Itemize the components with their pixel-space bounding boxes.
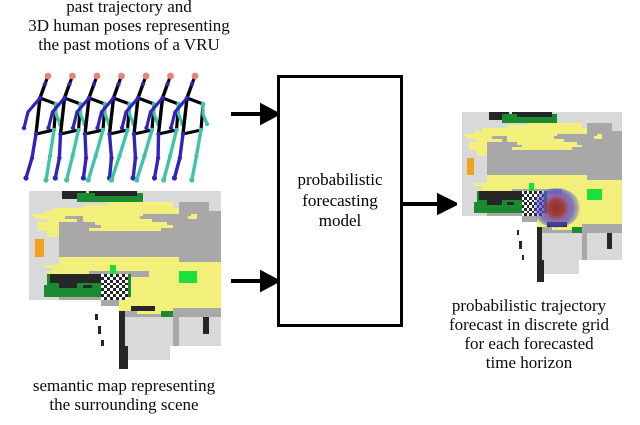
pose-sequence-figure — [18, 62, 248, 194]
semantic-map-input — [29, 191, 221, 375]
pose-skeletons-svg — [18, 62, 248, 194]
arrow-model-to-output — [403, 192, 457, 216]
caption-input-poses: past trajectory and 3D human poses repre… — [0, 0, 264, 54]
model-box-label: probabilistic forecasting model — [298, 170, 383, 232]
arrow-map-to-model — [231, 269, 279, 293]
semantic-map-output — [462, 112, 622, 288]
arrow-poses-to-model — [231, 102, 279, 126]
caption-output: probabilistic trajectory forecast in dis… — [418, 296, 640, 372]
model-box: probabilistic forecasting model — [277, 75, 403, 327]
caption-semantic-map: semantic map representing the surroundin… — [0, 376, 250, 414]
